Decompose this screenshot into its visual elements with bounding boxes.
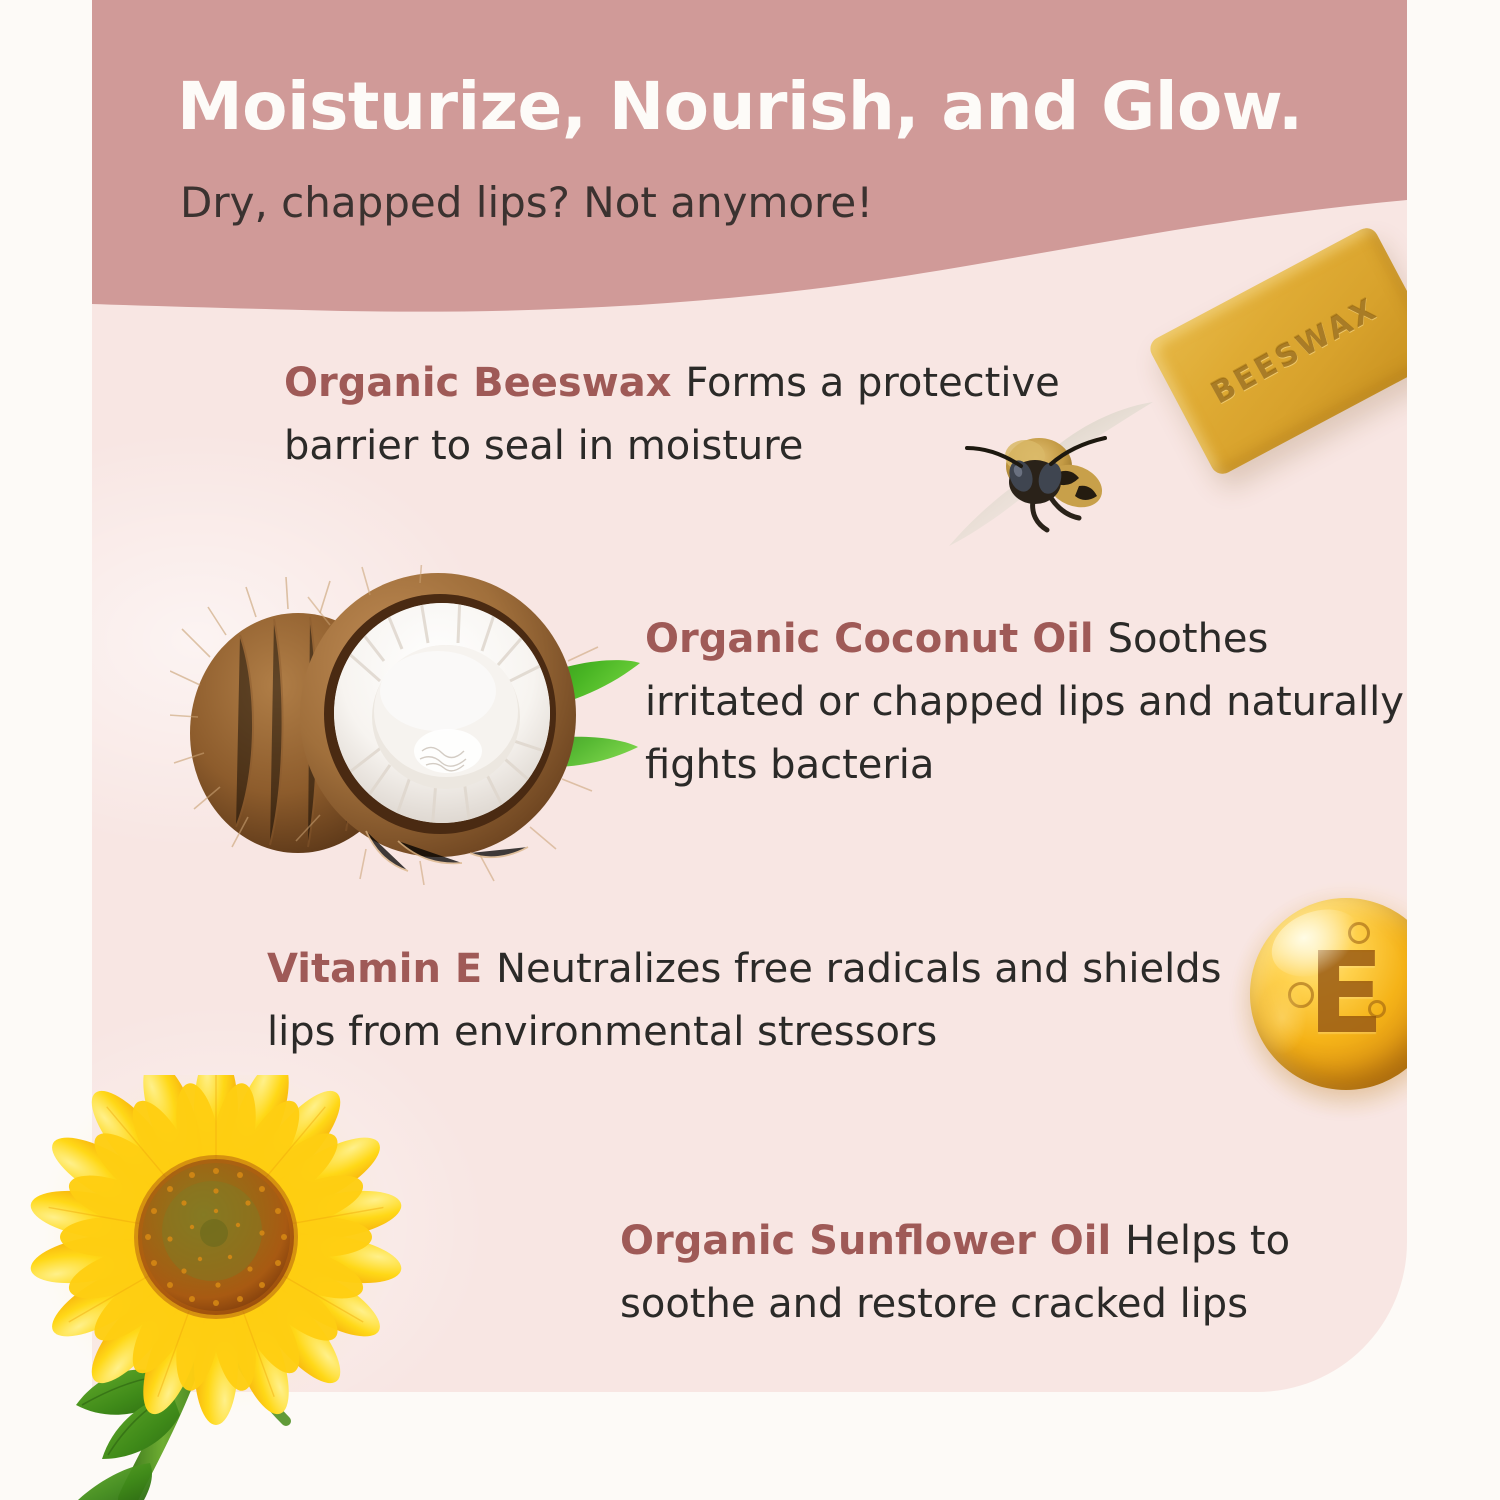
infographic-canvas: Moisturize, Nourish, and Glow. Dry, chap… [0, 0, 1500, 1500]
ingredient-coconut-oil-line: Organic Coconut Oil Soothes irritated or… [645, 608, 1405, 798]
page-title: Moisturize, Nourish, and Glow. [177, 68, 1303, 145]
beeswax-bar-face: BEESWAX [1146, 224, 1407, 478]
beeswax-bar-icon: BEESWAX [1147, 245, 1407, 565]
sunflower-icon [20, 1075, 490, 1500]
ingredient-sunflower-oil-name: Organic Sunflower Oil [620, 1218, 1125, 1264]
ingredient-sunflower-oil: Organic Sunflower Oil Helps to soothe an… [620, 1210, 1407, 1336]
beeswax-bar-label: BEESWAX [1146, 223, 1407, 480]
ingredient-sunflower-oil-line: Organic Sunflower Oil Helps to soothe an… [620, 1210, 1407, 1336]
vitamin-e-highlight [1258, 982, 1306, 1054]
honeybee-icon [947, 400, 1157, 550]
ingredient-coconut-oil-name: Organic Coconut Oil [645, 616, 1108, 662]
ingredient-coconut-oil: Organic Coconut Oil Soothes irritated or… [645, 608, 1405, 798]
ingredient-vitamin-e-name: Vitamin E [267, 946, 496, 992]
ingredient-beeswax-name: Organic Beeswax [284, 360, 685, 406]
coconut-icon [170, 565, 640, 885]
page-subtitle: Dry, chapped lips? Not anymore! [180, 178, 873, 227]
vitamin-e-droplet-icon: E [1240, 890, 1407, 1100]
ingredient-vitamin-e: Vitamin E Neutralizes free radicals and … [267, 938, 1242, 1064]
ingredient-vitamin-e-line: Vitamin E Neutralizes free radicals and … [267, 938, 1242, 1064]
vitamin-e-bubble [1368, 1000, 1386, 1018]
